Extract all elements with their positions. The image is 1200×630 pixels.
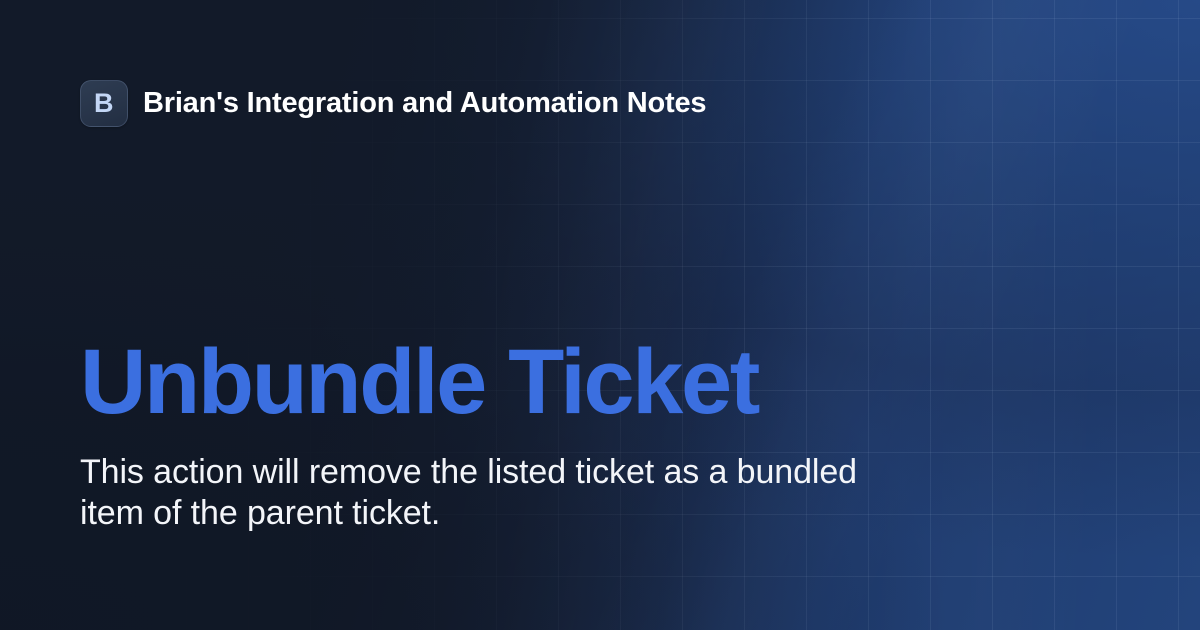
site-header: B Brian's Integration and Automation Not… [80, 80, 706, 127]
page-description: This action will remove the listed ticke… [80, 452, 860, 534]
hero-block: Unbundle Ticket This action will remove … [80, 336, 1080, 534]
brand-initial-badge: B [80, 80, 128, 127]
open-graph-card: B Brian's Integration and Automation Not… [0, 0, 1200, 630]
brand-initial-letter: B [94, 90, 114, 117]
page-title: Unbundle Ticket [80, 336, 1080, 428]
site-title: Brian's Integration and Automation Notes [143, 87, 706, 120]
